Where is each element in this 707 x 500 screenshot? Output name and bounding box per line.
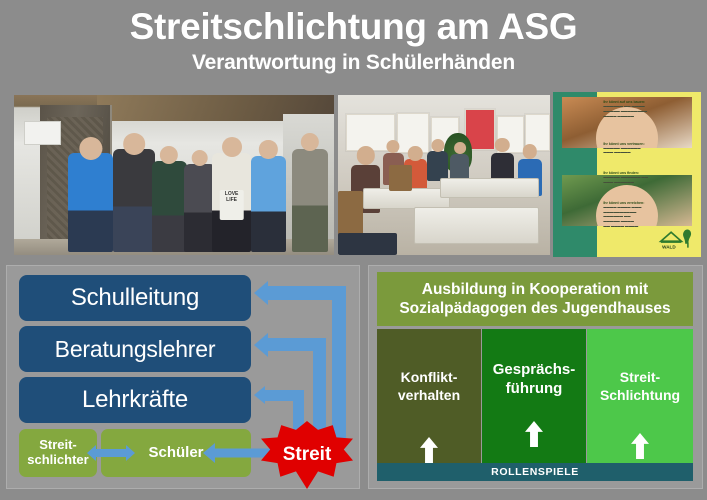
flow-box-schulleitung[interactable]: Schulleitung [19, 275, 251, 321]
streit-starburst[interactable]: Streit [261, 421, 353, 489]
door-sign [24, 121, 61, 145]
rollenspiele-footer: ROLLENSPIELE [377, 463, 693, 481]
arrow-horizontal [264, 390, 304, 401]
flyer-section-1: Ihr könnt auf uns bauen: ▬▬▬▬▬▬ ▬▬ ▬▬▬▬▬… [603, 100, 695, 118]
flyer-body: ▬▬▬▬▬▬ ▬▬ ▬▬▬▬▬▬▬▬▬ ▬▬▬▬▬▬▬▬▬▬▬▬ ▬▬▬▬▬ [603, 104, 695, 118]
student-6 [251, 156, 286, 252]
table [414, 207, 539, 244]
group-photo-hallway: LOVE LIFE [14, 95, 334, 255]
title-block: Streitschlichtung am ASG Verantwortung i… [0, 8, 707, 74]
training-column-konfliktverhalten[interactable]: Konflikt-verhalten [377, 329, 481, 463]
chair [338, 233, 397, 255]
training-column-gespraechsfuehrung[interactable]: Gesprächs-führung [482, 329, 586, 463]
flyer-body: ▬▬▬▬▬ ▬▬▬▬▬▬ ▬▬▬▬▬ ▬▬▬▬▬▬ [603, 175, 695, 185]
person-head [454, 142, 466, 154]
flow-box-label: Lehrkräfte [82, 386, 188, 414]
flyer-body: ▬▬▬▬▬ ▬▬▬▬▬▬▬▬▬ ▬▬▬▬▬ [603, 146, 695, 156]
flow-box-label: Schulleitung [71, 284, 199, 312]
arrow-horizontal [268, 338, 326, 351]
up-arrow-icon [631, 433, 649, 459]
training-column-label: Konflikt-verhalten [377, 369, 481, 404]
waldhaus-logo: WALD [657, 224, 695, 252]
training-header-line1: Ausbildung in Kooperation mit [422, 280, 648, 299]
slide-canvas: Streitschlichtung am ASG Verantwortung i… [0, 0, 707, 500]
ausbildung-kooperation: Ausbildung in Kooperation mit Sozialpäda… [368, 265, 703, 489]
arrow-tip [203, 443, 215, 463]
svg-text:WALD: WALD [662, 244, 676, 249]
up-arrow-icon [525, 421, 543, 447]
student-2 [113, 149, 155, 251]
student-head [301, 133, 319, 151]
arrow-shaft [94, 449, 128, 457]
workshop-room-photo [338, 95, 550, 255]
student-1 [68, 153, 113, 252]
flow-box-streitschlichter[interactable]: Streit-schlichter [19, 429, 97, 477]
flyer-section-3: Ihr könnt uns finden: ▬▬▬▬▬ ▬▬▬▬▬▬ ▬▬▬▬▬… [603, 171, 695, 185]
student-4 [184, 164, 216, 252]
flow-box-label: Streit-schlichter [27, 438, 88, 467]
arrow-tip [254, 281, 268, 305]
arrow-horizontal [268, 286, 346, 300]
flow-box-lehrkraefte[interactable]: Lehrkräfte [19, 377, 251, 423]
student-head [259, 140, 277, 158]
training-header-line2: Sozialpädagogen des Jugendhauses [399, 299, 670, 318]
shirt-text: LOVE LIFE [219, 190, 244, 220]
eskalationsstufen-flowchart: Schulleitung Beratungslehrer Lehrkräfte … [6, 265, 360, 489]
flow-box-label: Beratungslehrer [55, 336, 216, 363]
page-subtitle: Verantwortung in Schülerhänden [0, 51, 707, 74]
student-head [222, 137, 242, 157]
jugendhaus-flyer: Ihr könnt auf uns bauen: ▬▬▬▬▬▬ ▬▬ ▬▬▬▬▬… [553, 92, 701, 257]
flyer-section-2: Ihr könnt uns vertrauen: ▬▬▬▬▬ ▬▬▬▬▬▬▬▬▬… [603, 142, 695, 156]
arrow-tip-right [126, 445, 135, 461]
training-column-label: Streit-Schlichtung [587, 369, 693, 404]
arrow-tip [254, 333, 268, 357]
student-head [191, 150, 208, 167]
flow-box-label: Schüler [148, 445, 203, 462]
flow-box-beratungslehrer[interactable]: Beratungslehrer [19, 326, 251, 372]
up-arrow-icon [420, 437, 438, 463]
student-head [160, 146, 178, 164]
student-5: LOVE LIFE [212, 153, 250, 252]
student-3 [152, 161, 187, 252]
page-title: Streitschlichtung am ASG [0, 8, 707, 47]
person-head [408, 146, 422, 160]
chair [389, 165, 412, 191]
student-head [123, 133, 145, 155]
student-7 [292, 149, 327, 251]
seated-person [427, 151, 448, 181]
table [440, 178, 540, 198]
training-column-label: Gesprächs-führung [482, 361, 586, 399]
arrow-tip [254, 386, 265, 404]
chair [338, 191, 363, 236]
training-column-streitschlichtung[interactable]: Streit-Schlichtung [587, 329, 693, 463]
arrow-schlichter-schueler [87, 443, 135, 463]
starburst-label: Streit [261, 421, 353, 489]
training-header: Ausbildung in Kooperation mit Sozialpäda… [377, 272, 693, 326]
student-head [79, 137, 102, 160]
